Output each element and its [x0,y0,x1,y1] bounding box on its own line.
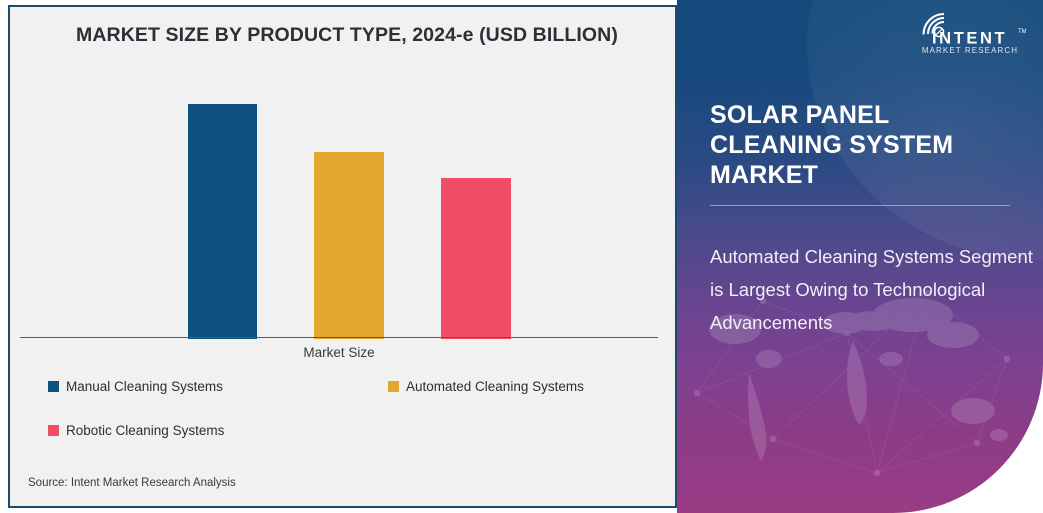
intent-market-research-logo: INTENT TM MARKET RESEARCH [914,12,1026,58]
chart-title: MARKET SIZE BY PRODUCT TYPE, 2024-e (USD… [76,24,618,47]
logo-trademark: TM [1018,29,1026,35]
bar-manual-cleaning-systems [188,104,257,339]
legend-swatch-icon [48,381,59,392]
plot-area [20,77,665,339]
legend-swatch-icon [48,425,59,436]
chart-legend: Manual Cleaning Systems Automated Cleani… [48,379,648,467]
logo-wordmark: INTENT [932,30,1007,48]
bar-robotic-cleaning-systems [441,178,511,339]
logo-tagline: MARKET RESEARCH [922,46,1018,55]
legend-item-label: Robotic Cleaning Systems [66,423,224,438]
chart-card: MARKET SIZE BY PRODUCT TYPE, 2024-e (USD… [8,5,677,508]
legend-item-automated-cleaning-systems[interactable]: Automated Cleaning Systems [388,379,584,394]
legend-row: Manual Cleaning Systems Automated Cleani… [48,379,648,423]
banner-panel: INTENT TM MARKET RESEARCH SOLAR PANEL CL… [677,0,1043,513]
banner-heading: SOLAR PANEL CLEANING SYSTEM MARKET [710,100,1020,190]
legend-row: Robotic Cleaning Systems [48,423,648,467]
legend-item-manual-cleaning-systems[interactable]: Manual Cleaning Systems [48,379,223,394]
legend-item-label: Automated Cleaning Systems [406,379,584,394]
legend-swatch-icon [388,381,399,392]
x-axis-line [20,337,658,338]
banner-subheading: Automated Cleaning Systems Segment is La… [710,240,1035,339]
legend-item-label: Manual Cleaning Systems [66,379,223,394]
bar-automated-cleaning-systems [314,152,384,339]
legend-item-robotic-cleaning-systems[interactable]: Robotic Cleaning Systems [48,423,224,438]
banner-divider [710,205,1010,206]
x-axis-label: Market Size [10,345,668,360]
source-note: Source: Intent Market Research Analysis [28,477,236,489]
infographic-screenshot: MARKET SIZE BY PRODUCT TYPE, 2024-e (USD… [0,0,1043,513]
